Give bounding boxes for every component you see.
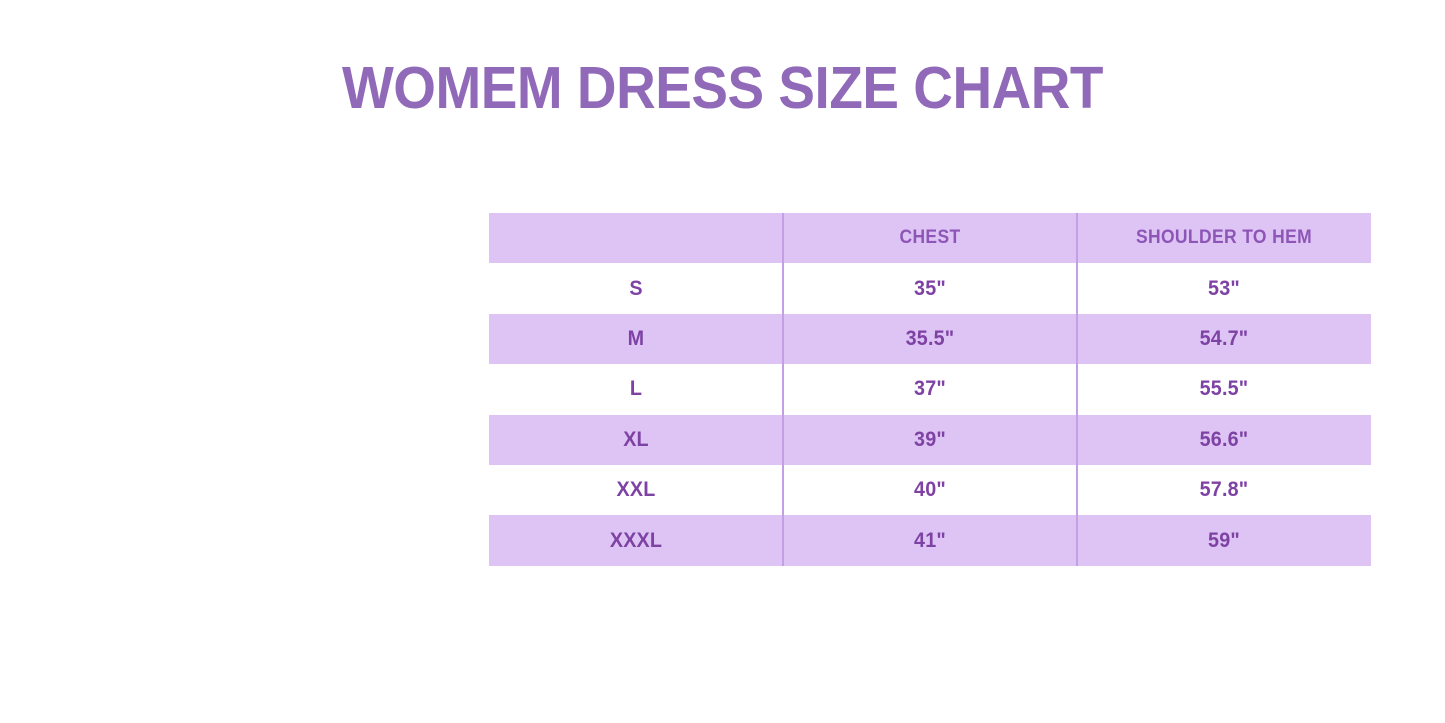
cell-chest: 35" [792,263,1068,313]
table-row: M 35.5" 54.7" [489,314,1371,364]
size-chart-page: WOMEM DRESS SIZE CHART CHEST SHOULDER TO… [0,0,1445,723]
table-row: S 35" 53" [489,263,1371,313]
size-chart-table-container: CHEST SHOULDER TO HEM S 35" 53" M 35.5" … [489,213,1371,566]
cell-hem: 55.5" [1086,364,1362,414]
cell-size: S [498,263,774,313]
cell-hem: 56.6" [1086,415,1362,465]
cell-hem: 53" [1086,263,1362,313]
column-header-shoulder-to-hem: SHOULDER TO HEM [1089,213,1359,263]
cell-chest: 37" [792,364,1068,414]
cell-size: L [498,364,774,414]
table-row: XXL 40" 57.8" [489,465,1371,515]
cell-hem: 57.8" [1086,465,1362,515]
cell-size: M [498,314,774,364]
cell-chest: 41" [792,515,1068,565]
cell-size: XXXL [498,515,774,565]
cell-chest: 40" [792,465,1068,515]
size-chart-table: CHEST SHOULDER TO HEM S 35" 53" M 35.5" … [489,213,1371,566]
cell-chest: 39" [792,415,1068,465]
cell-hem: 54.7" [1086,314,1362,364]
table-header-row: CHEST SHOULDER TO HEM [489,213,1371,263]
cell-hem: 59" [1086,515,1362,565]
page-title: WOMEM DRESS SIZE CHART [51,52,1395,124]
cell-chest: 35.5" [792,314,1068,364]
column-header-size [501,213,771,263]
table-header: CHEST SHOULDER TO HEM [489,213,1371,263]
column-header-chest: CHEST [795,213,1065,263]
table-body: S 35" 53" M 35.5" 54.7" L 37" 55.5" XL 3… [489,263,1371,565]
column-divider-2 [1076,213,1078,566]
table-row: XXXL 41" 59" [489,515,1371,565]
table-row: XL 39" 56.6" [489,415,1371,465]
cell-size: XXL [498,465,774,515]
cell-size: XL [498,415,774,465]
column-divider-1 [782,213,784,566]
table-row: L 37" 55.5" [489,364,1371,414]
